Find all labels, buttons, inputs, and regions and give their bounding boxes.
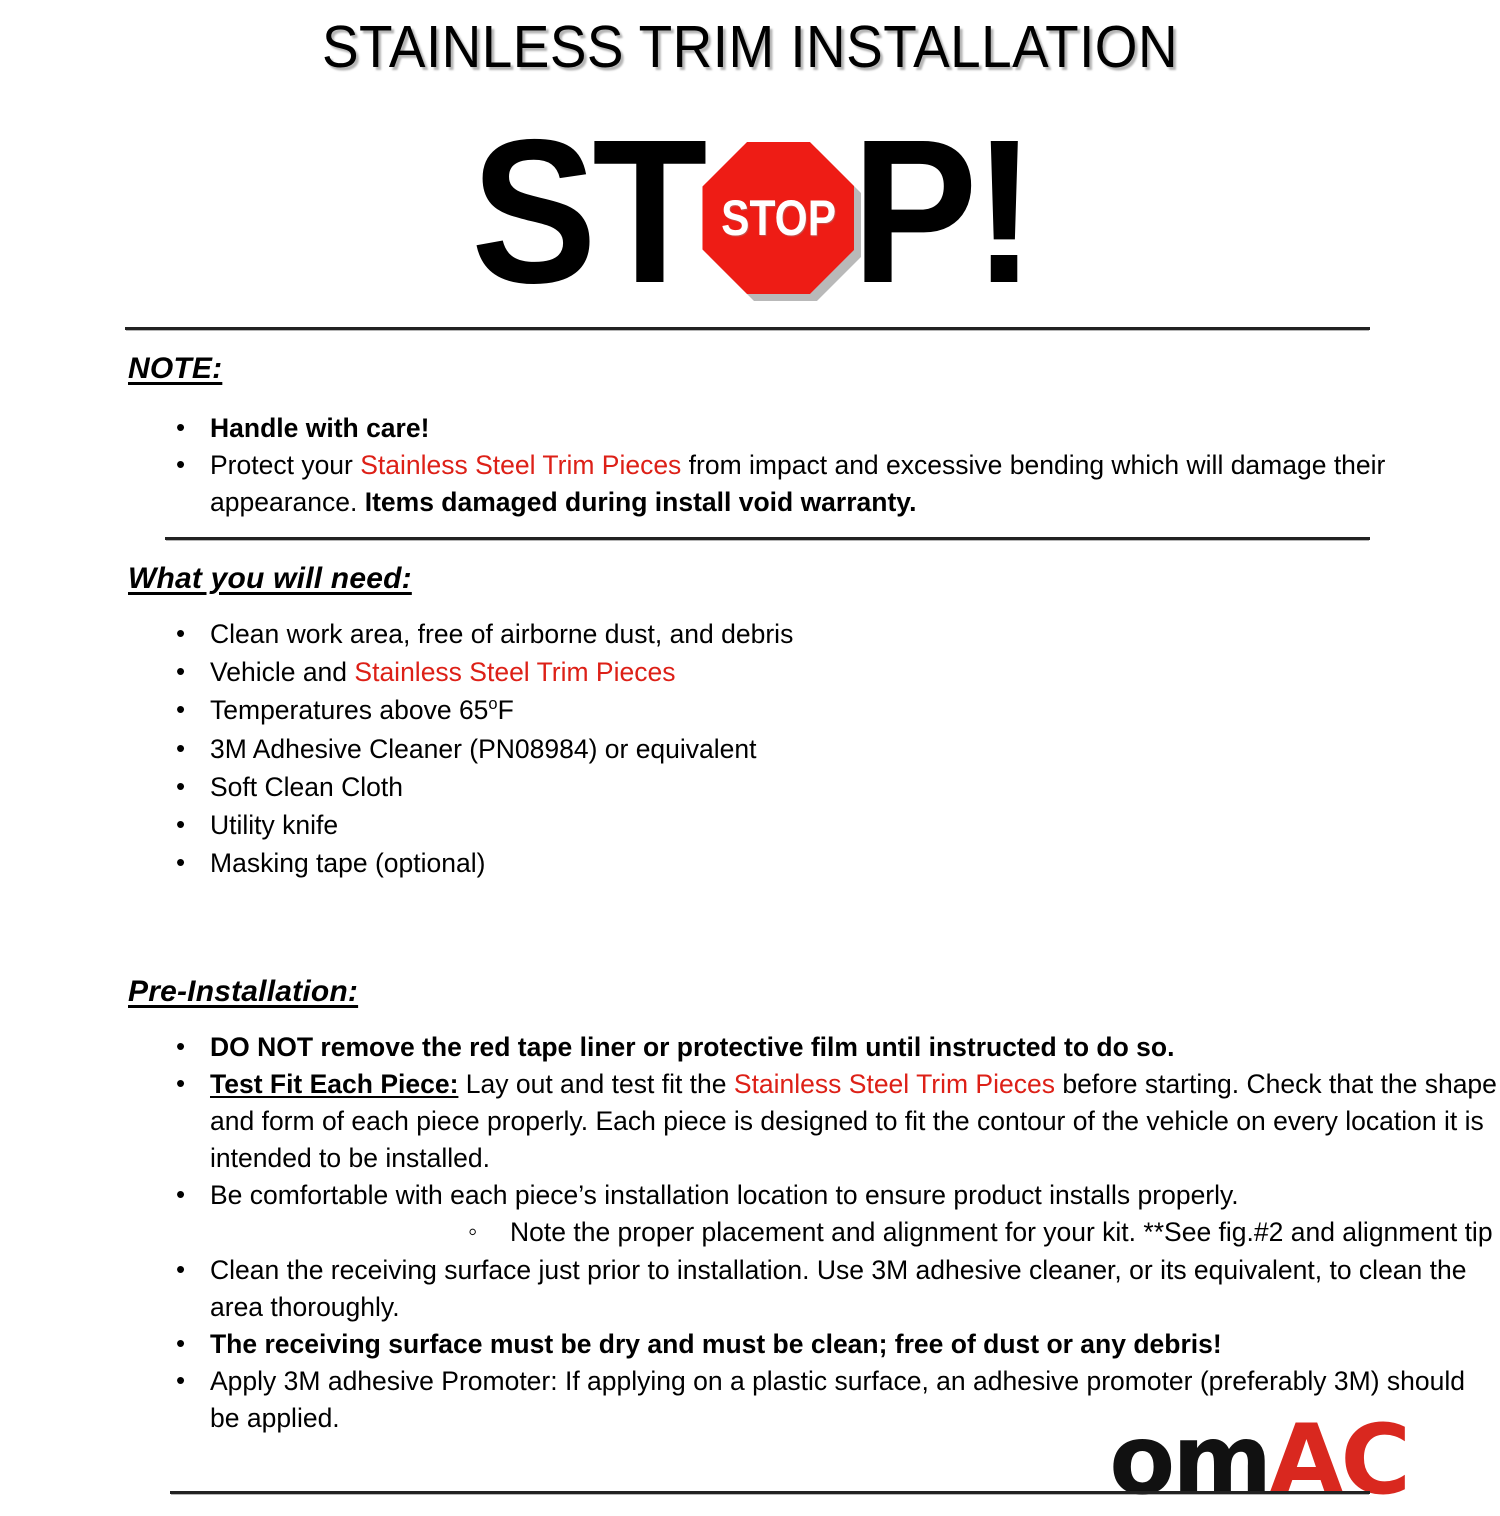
list-item-text: Be comfortable with each piece’s install…: [210, 1180, 1239, 1210]
list-item: Handle with care!: [0, 410, 1500, 447]
need-heading-row: What you will need:: [0, 540, 1500, 616]
need-heading: What you will need:: [128, 562, 412, 596]
need-list: Clean work area, free of airborne dust, …: [0, 616, 1500, 882]
stop-sign-label: STOP: [721, 193, 836, 243]
list-item-text: F: [498, 695, 514, 725]
list-item-text: The receiving surface must be dry and mu…: [210, 1329, 1222, 1359]
page-title: STAINLESS TRIM INSTALLATION: [53, 0, 1448, 77]
list-item-text: Masking tape (optional): [210, 848, 485, 878]
preinstallation-sublist: Note the proper placement and alignment …: [210, 1214, 1500, 1251]
note-heading-row: NOTE:: [0, 330, 1500, 410]
list-item: Vehicle and Stainless Steel Trim Pieces: [0, 654, 1500, 691]
omac-logo-red-text: AC: [1269, 1404, 1408, 1516]
list-item-text: Temperatures above 65: [210, 695, 488, 725]
list-item: Be comfortable with each piece’s install…: [0, 1177, 1500, 1251]
list-item-text: Clean work area, free of airborne dust, …: [210, 619, 793, 649]
list-item-text: Lay out and test fit the: [458, 1069, 733, 1099]
stop-sign-octagon: STOP: [702, 142, 854, 294]
document-body: NOTE: Handle with care! Protect your Sta…: [0, 330, 1500, 1437]
highlight-trim-pieces: Stainless Steel Trim Pieces: [360, 450, 681, 480]
list-item-label: Test Fit Each Piece:: [210, 1069, 458, 1099]
preinstallation-heading: Pre-Installation:: [128, 975, 358, 1009]
stop-logo: ST STOP P!: [0, 97, 1500, 327]
list-item-text: DO NOT remove the red tape liner or prot…: [210, 1032, 1174, 1062]
list-item-text: Vehicle and: [210, 657, 354, 687]
divider-bottom: [170, 1491, 1370, 1494]
sub-list-item: Note the proper placement and alignment …: [210, 1214, 1500, 1251]
list-item: Masking tape (optional): [0, 845, 1500, 882]
highlight-trim-pieces: Stainless Steel Trim Pieces: [354, 657, 675, 687]
note-heading: NOTE:: [128, 352, 222, 386]
list-item: Temperatures above 65oF: [0, 692, 1500, 729]
preinstallation-list: DO NOT remove the red tape liner or prot…: [0, 1029, 1500, 1437]
list-item: The receiving surface must be dry and mu…: [0, 1326, 1500, 1363]
list-item: Clean work area, free of airborne dust, …: [0, 616, 1500, 653]
sub-list-item-text: Note the proper placement and alignment …: [510, 1217, 1493, 1247]
spacer: [0, 883, 1500, 957]
degree-symbol: o: [488, 696, 497, 714]
list-item: Soft Clean Cloth: [0, 769, 1500, 806]
list-item-text: Utility knife: [210, 810, 338, 840]
list-item: Test Fit Each Piece: Lay out and test fi…: [0, 1066, 1500, 1177]
preinstallation-heading-row: Pre-Installation:: [0, 957, 1500, 1029]
list-item: DO NOT remove the red tape liner or prot…: [0, 1029, 1500, 1066]
list-item-text: 3M Adhesive Cleaner (PN08984) or equival…: [210, 734, 757, 764]
stop-logo-left-text: ST: [471, 132, 703, 292]
omac-logo-black-text: om: [1109, 1404, 1269, 1516]
list-item: Utility knife: [0, 807, 1500, 844]
stop-logo-right-text: P!: [852, 132, 1031, 292]
note-list: Handle with care! Protect your Stainless…: [0, 410, 1500, 521]
divider-bottom-wrap: [0, 1491, 1500, 1494]
list-item: Protect your Stainless Steel Trim Pieces…: [0, 447, 1500, 521]
highlight-trim-pieces: Stainless Steel Trim Pieces: [734, 1069, 1055, 1099]
list-item: 3M Adhesive Cleaner (PN08984) or equival…: [0, 731, 1500, 768]
list-item-text: Handle with care!: [210, 413, 429, 443]
list-item-text: Soft Clean Cloth: [210, 772, 403, 802]
list-item-text: Protect your: [210, 450, 360, 480]
list-item-emphasis: Items damaged during install void warran…: [365, 487, 917, 517]
list-item: Clean the receiving surface just prior t…: [0, 1252, 1500, 1326]
stop-sign-icon: STOP: [702, 142, 854, 294]
list-item-text: Clean the receiving surface just prior t…: [210, 1255, 1467, 1322]
